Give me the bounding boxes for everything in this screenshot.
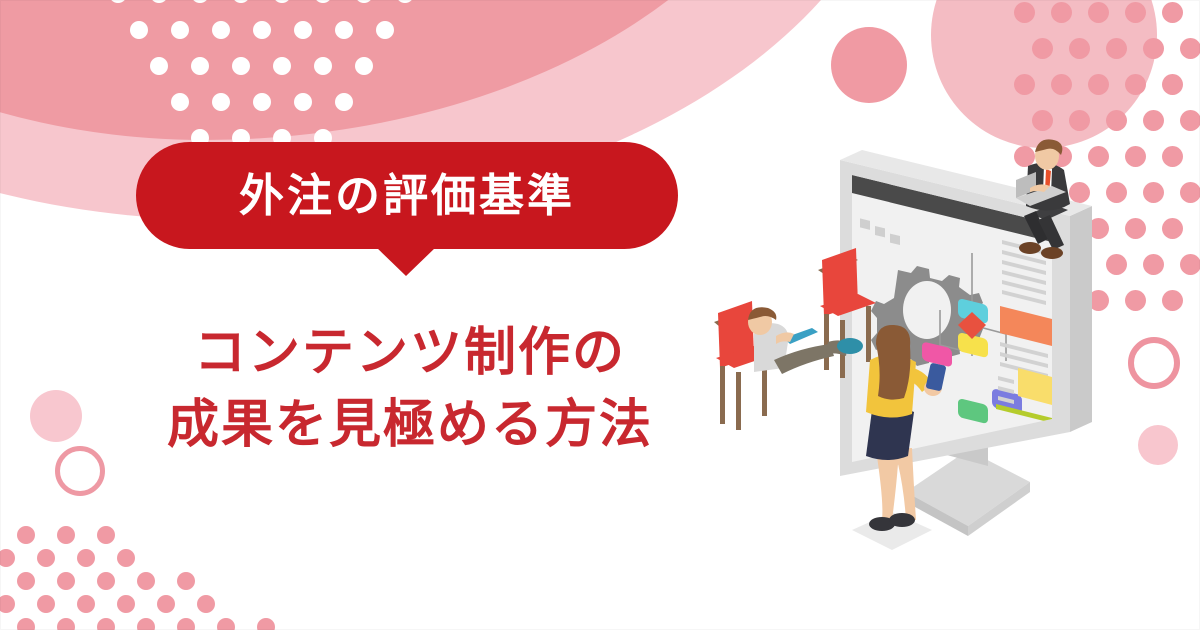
decor-dot-pink-grid	[1032, 38, 1053, 59]
decor-dot-white	[314, 57, 332, 75]
decor-dot-pink-cluster	[117, 549, 135, 567]
decor-dot-white	[294, 93, 312, 111]
decor-dot-pink-cluster	[17, 526, 35, 544]
decor-dot-pink-cluster	[57, 572, 75, 590]
decor-dot-pink-cluster	[97, 526, 115, 544]
circle-medium-pink	[831, 27, 907, 103]
decor-dot-pink-grid	[1088, 74, 1109, 95]
category-badge-label: 外注の評価基準	[239, 173, 575, 218]
decor-dot-white	[335, 93, 353, 111]
decor-dot-white	[212, 93, 230, 111]
decor-dot-white	[212, 21, 230, 39]
decor-dot-pink-grid	[1125, 2, 1146, 23]
decor-dot-pink-cluster	[97, 618, 115, 630]
decor-dot-pink-grid	[1014, 74, 1035, 95]
category-badge: 外注の評価基準	[136, 142, 678, 249]
decor-dot-pink-grid	[1162, 2, 1183, 23]
decor-dot-white	[171, 93, 189, 111]
decor-dot-pink-cluster	[137, 618, 155, 630]
decor-dot-white	[232, 57, 250, 75]
category-badge-tail	[376, 247, 436, 276]
businessman-shoe-back	[1019, 242, 1041, 254]
decor-dot-pink-grid	[1088, 2, 1109, 23]
isometric-illustration	[700, 120, 1200, 600]
decor-dot-pink-cluster	[77, 595, 95, 613]
woman-shoe-right	[889, 513, 915, 527]
decor-dot-pink-grid	[1051, 2, 1072, 23]
decor-dot-white	[335, 21, 353, 39]
decor-dot-white	[355, 57, 373, 75]
page-title-line-2: 成果を見極める方法	[60, 390, 760, 462]
page-title-line-1: コンテンツ制作の	[60, 318, 760, 390]
decor-dot-pink-cluster	[0, 549, 15, 567]
decor-dot-pink-grid	[1069, 38, 1090, 59]
decor-dot-pink-cluster	[97, 572, 115, 590]
banner-canvas: 外注の評価基準 コンテンツ制作の 成果を見極める方法	[0, 0, 1200, 630]
decor-dot-pink-cluster	[17, 572, 35, 590]
decor-dot-white	[171, 21, 189, 39]
decor-dot-pink-cluster	[17, 618, 35, 630]
decor-dot-pink-cluster	[217, 618, 235, 630]
businessman-shoe-front	[1041, 247, 1063, 259]
decor-dot-white	[294, 21, 312, 39]
decor-dot-pink-cluster	[117, 595, 135, 613]
decor-dot-white	[130, 21, 148, 39]
seated-man-shoe	[837, 338, 863, 354]
decor-dot-pink-cluster	[137, 572, 155, 590]
decor-dot-pink-cluster	[257, 618, 275, 630]
decor-dot-pink-cluster	[197, 595, 215, 613]
decor-dot-pink-cluster	[157, 595, 175, 613]
decor-dot-white	[150, 57, 168, 75]
decor-dot-pink-cluster	[37, 595, 55, 613]
decor-dot-pink-cluster	[77, 549, 95, 567]
decor-dot-pink-cluster	[37, 549, 55, 567]
decor-dot-white	[191, 57, 209, 75]
decor-dot-pink-cluster	[0, 595, 15, 613]
decor-dot-white	[253, 21, 271, 39]
woman-hair	[876, 325, 910, 400]
decor-dot-white	[253, 93, 271, 111]
decor-dot-pink-grid	[1180, 38, 1200, 59]
decor-dot-pink-cluster	[177, 618, 195, 630]
monitor-base	[906, 450, 1030, 526]
page-title: コンテンツ制作の 成果を見極める方法	[60, 318, 760, 462]
decor-dot-pink-cluster	[57, 618, 75, 630]
decor-dot-white	[376, 21, 394, 39]
decor-dot-white	[273, 57, 291, 75]
decor-dot-pink-grid	[1051, 74, 1072, 95]
decor-dot-pink-cluster	[177, 572, 195, 590]
decor-dot-pink-grid	[1106, 38, 1127, 59]
decor-dot-pink-cluster	[57, 526, 75, 544]
decor-dot-pink-grid	[1162, 74, 1183, 95]
decor-dot-pink-grid	[1125, 74, 1146, 95]
decor-dot-pink-grid	[1014, 2, 1035, 23]
decor-dot-pink-grid	[1143, 38, 1164, 59]
